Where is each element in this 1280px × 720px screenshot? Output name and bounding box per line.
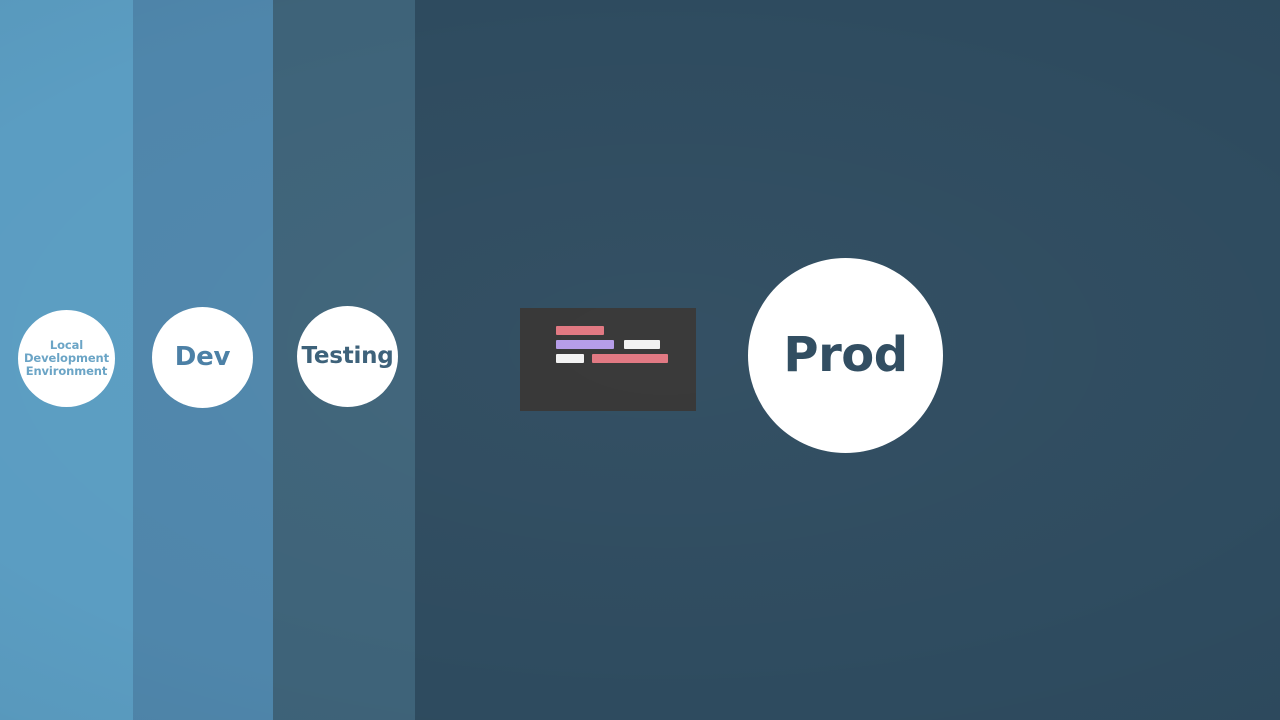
code-line-bar-4	[556, 354, 584, 363]
code-artifact-block	[520, 308, 696, 411]
code-line-bar-1	[556, 326, 604, 335]
code-line-bar-3	[624, 340, 660, 349]
stage-label-prod: Prod	[783, 329, 907, 383]
pipeline-diagram: Local Development Environment Dev Testin…	[0, 0, 1280, 720]
stage-node-dev[interactable]: Dev	[152, 307, 253, 408]
code-line-bar-5	[592, 354, 668, 363]
stage-node-local[interactable]: Local Development Environment	[18, 310, 115, 407]
code-line-bar-2	[556, 340, 614, 349]
stage-node-prod[interactable]: Prod	[748, 258, 943, 453]
stage-node-testing[interactable]: Testing	[297, 306, 398, 407]
stage-label-local: Local Development Environment	[24, 339, 109, 378]
stage-label-testing: Testing	[301, 344, 393, 370]
stage-label-dev: Dev	[175, 343, 230, 372]
code-artifact-lines	[520, 308, 696, 411]
